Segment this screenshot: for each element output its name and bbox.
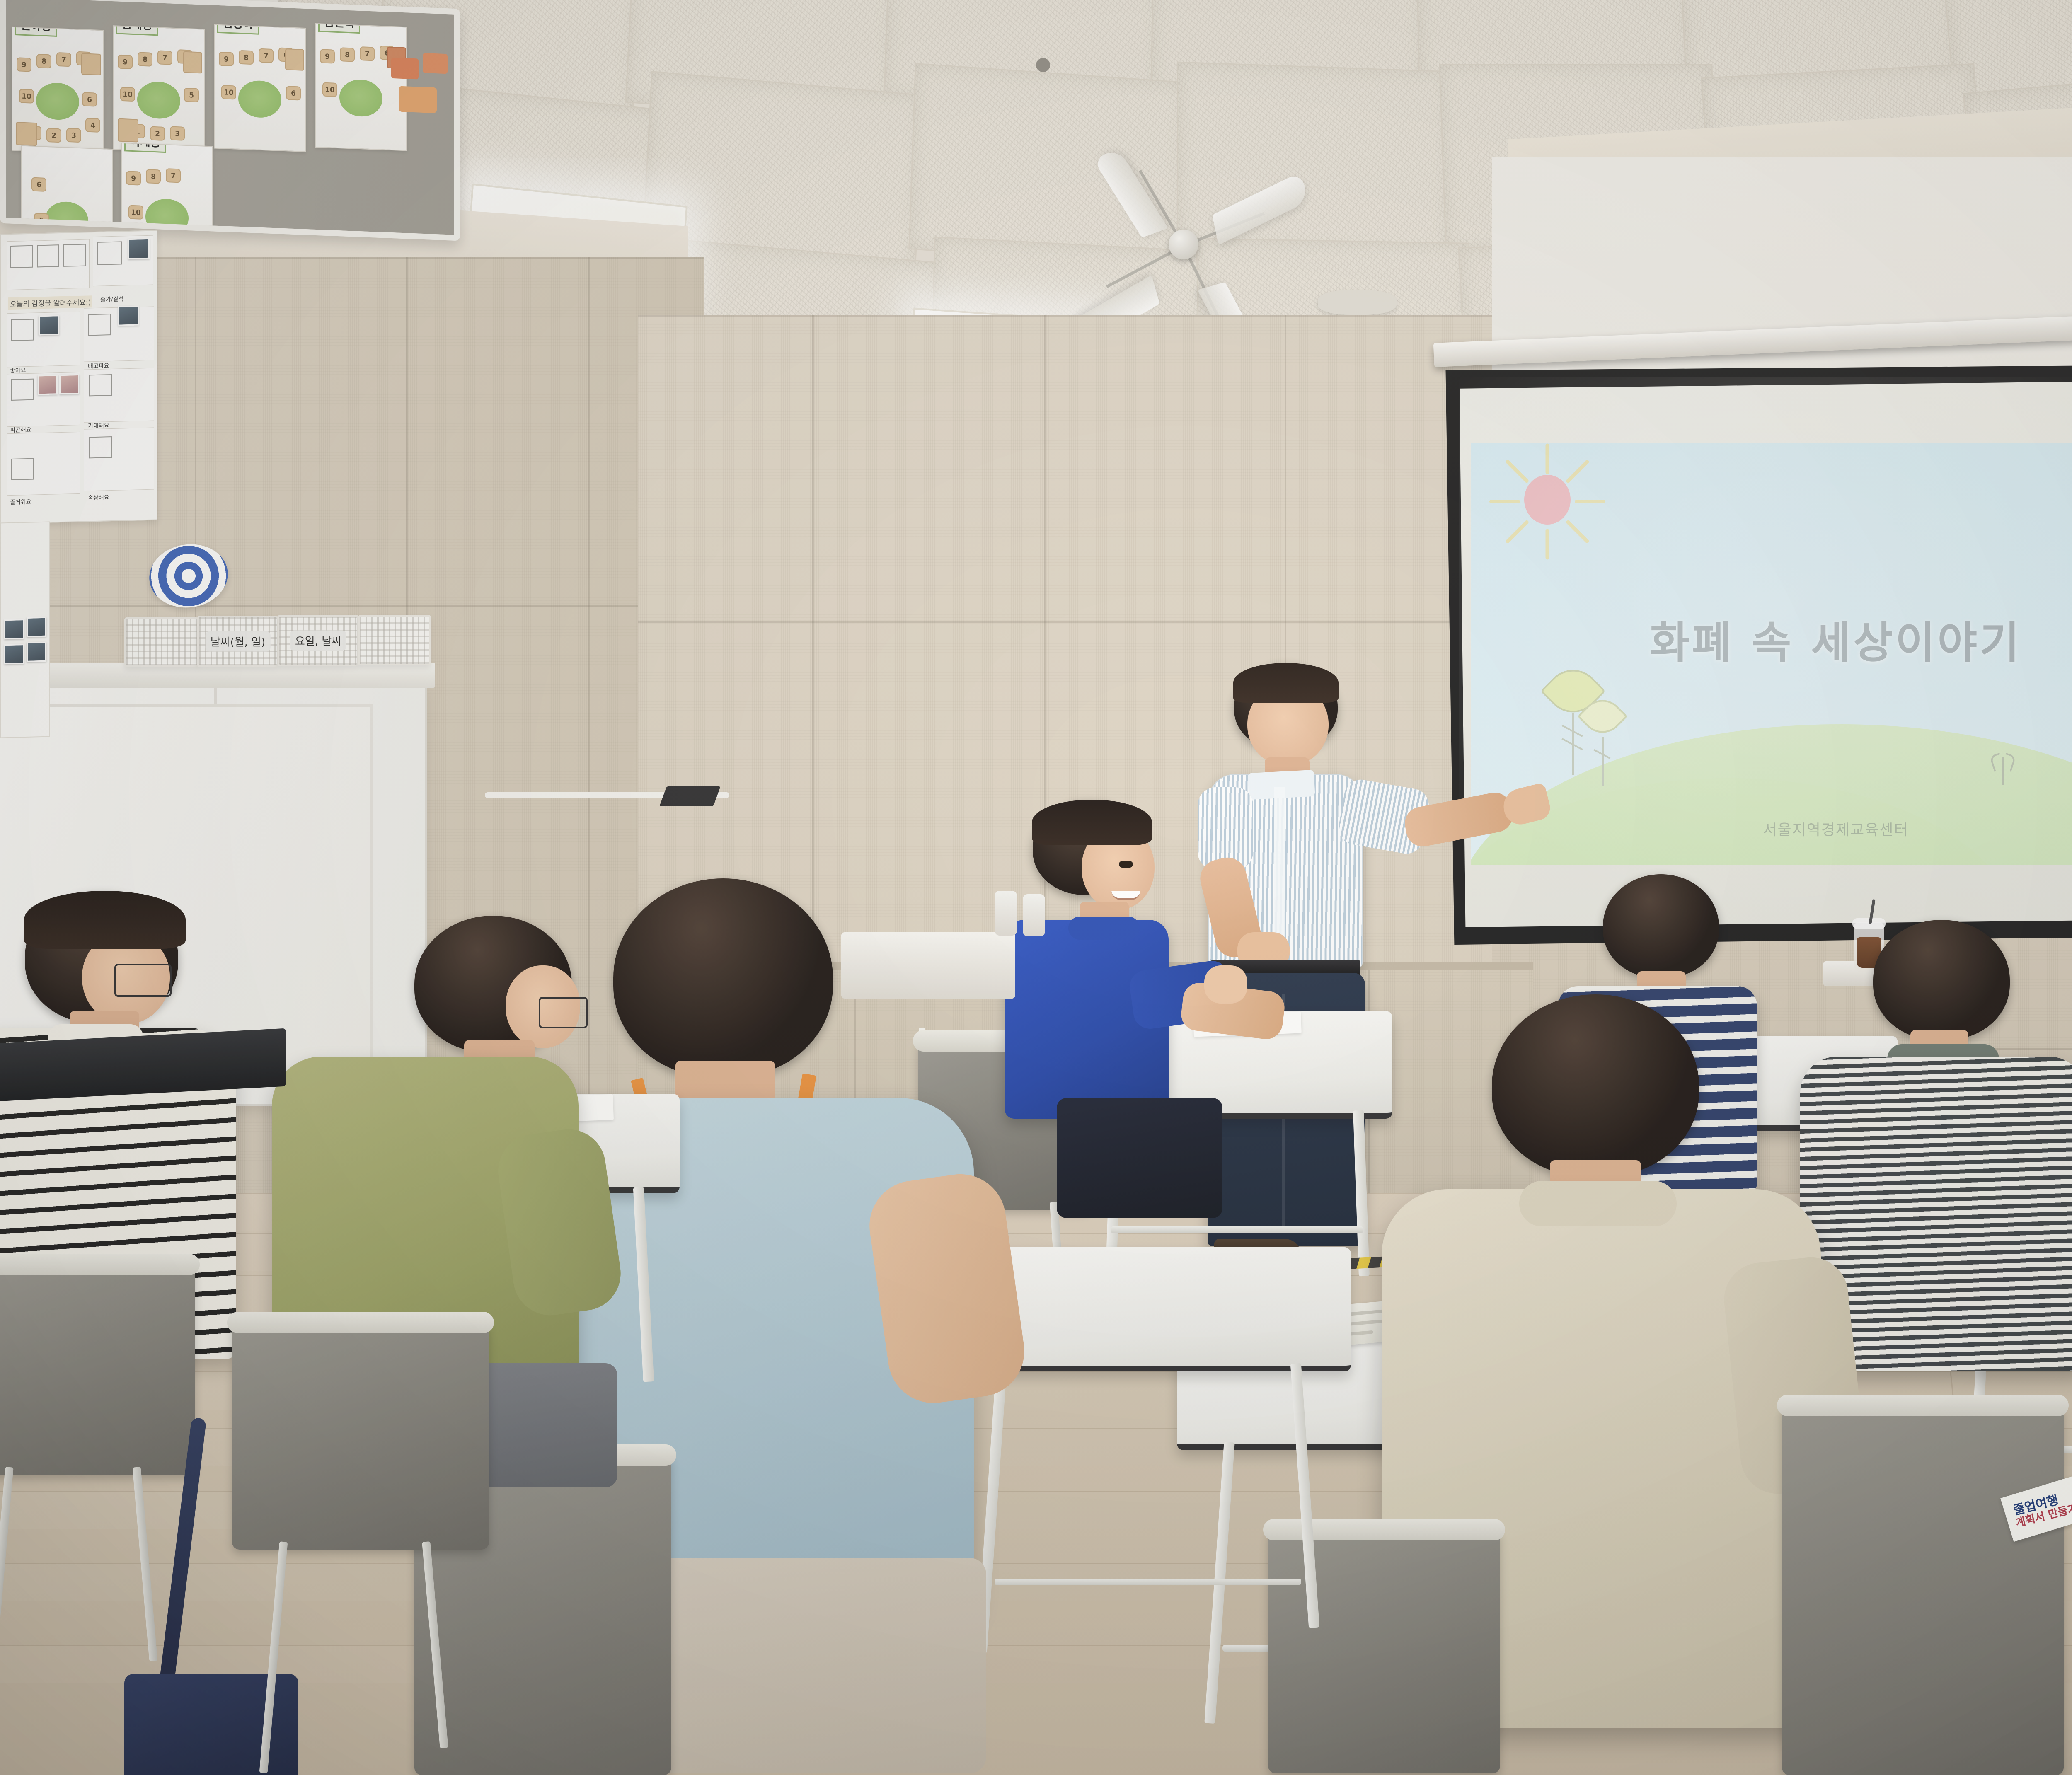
- sun-icon: [1524, 475, 1571, 525]
- emotion-chart-poster: 오늘의 감정을 알려주세요:) 출가/결석 좋아요 배고파요 피곤해요 기대돼요…: [0, 230, 157, 524]
- path-node: 6: [82, 92, 97, 106]
- path-node: 7: [157, 50, 172, 65]
- path-node: 6: [31, 177, 46, 192]
- path-node: 9: [320, 49, 335, 63]
- bulletin-board-clamp: [659, 786, 720, 806]
- shirt-collar: [1519, 1181, 1677, 1226]
- student-name-tag: 진하영: [15, 27, 57, 37]
- craft-piece: [391, 58, 419, 80]
- path-node: 10: [322, 82, 337, 97]
- storage-basket: 요일, 날씨: [278, 615, 359, 666]
- bulletin-board: 진하영 9 8 7 6 10 6 1 2 3 4 김재영 9 8 7 6 10 …: [0, 0, 460, 241]
- chair: [232, 1318, 489, 1550]
- craft-piece: [399, 86, 437, 114]
- poster-heading: 오늘의 감정을 알려주세요:): [8, 295, 92, 310]
- emotion-chart-poster-side: [0, 522, 50, 738]
- hair-fringe: [24, 891, 186, 949]
- path-node: 10: [128, 205, 143, 220]
- screen-surface: 화폐 속 세상이야기 서울지역경제교육센터: [1460, 380, 2072, 927]
- glasses-icon: [539, 997, 588, 1028]
- path-node: 9: [219, 52, 234, 66]
- path-node: 10: [120, 87, 135, 102]
- sprout-icon: [1989, 752, 2018, 786]
- rear-counter: [841, 932, 1015, 999]
- chair: [1268, 1525, 1500, 1773]
- student-name-tag: 이세용: [124, 143, 166, 153]
- slide-title: 화폐 속 세상이야기: [1471, 607, 2072, 670]
- student-progress-card: 김진혁 9 8 7 6 10: [315, 23, 407, 151]
- basket-label: 요일, 날씨: [290, 631, 346, 651]
- path-node: 10: [19, 89, 34, 103]
- path-node: 8: [138, 52, 152, 66]
- basket-label: 날짜(월, 일): [206, 631, 271, 652]
- student-progress-card: 김재영 9 8 7 6 10 5 1 2 3: [113, 25, 205, 153]
- hair-front: [1233, 663, 1339, 703]
- sprinkler-icon: [1036, 58, 1050, 72]
- head: [613, 878, 833, 1077]
- head: [1873, 920, 2010, 1040]
- tree-icon: [1580, 693, 1625, 788]
- path-node: 2: [150, 126, 165, 141]
- shirt-collar: [1068, 917, 1140, 940]
- craft-piece: [423, 53, 448, 74]
- path-node: 2: [46, 128, 61, 143]
- path-node: 9: [126, 171, 141, 185]
- path-node: 3: [170, 126, 185, 140]
- student-progress-card: 진하영 9 8 7 6 10 6 1 2 3 4: [12, 27, 104, 155]
- hand: [1204, 965, 1247, 1004]
- student-progress-card: 김동하 9 8 7 6 10 6: [214, 24, 306, 152]
- storage-basket: 날짜(월, 일): [197, 616, 278, 667]
- path-node: 7: [56, 52, 71, 67]
- path-node: 7: [166, 168, 181, 183]
- student-name-tag: 김진혁: [318, 23, 360, 34]
- bottle-icon: [995, 891, 1017, 936]
- slide-subtitle: 서울지역경제교육센터: [1471, 818, 2072, 839]
- path-node: 6: [286, 86, 301, 100]
- path-node: 8: [239, 50, 254, 65]
- trousers: [1057, 1098, 1222, 1218]
- path-node: 7: [259, 48, 274, 63]
- poster-attendance-heading: 출가/결석: [100, 295, 123, 303]
- mouth-smile: [1111, 891, 1140, 900]
- poster-row-caption: 즐거워요: [10, 498, 31, 506]
- storage-basket-group: 날짜(월, 일) 요일, 날씨: [124, 597, 431, 675]
- glasses-icon: [114, 964, 172, 997]
- classroom-photo-scene: LG: [0, 0, 2072, 1775]
- path-node: 3: [66, 128, 81, 143]
- path-node: 8: [146, 169, 161, 184]
- path-node: 7: [360, 46, 375, 61]
- path-node: 4: [85, 118, 100, 133]
- path-node: 8: [340, 47, 355, 62]
- path-node: 9: [118, 55, 133, 69]
- storage-basket: [124, 617, 199, 667]
- poster-row-caption: 속상해요: [88, 493, 109, 502]
- chair: [1782, 1400, 2064, 1775]
- person-student-blue-tee: [995, 800, 1293, 1214]
- eye: [1119, 861, 1133, 868]
- chair: [0, 1260, 195, 1475]
- head: [1603, 874, 1719, 978]
- slide-canvas: 화폐 속 세상이야기 서울지역경제교육센터: [1471, 443, 2072, 865]
- student-name-tag: 김재영: [116, 25, 158, 36]
- student-progress-card: 이세용 9 8 7 10: [121, 143, 213, 241]
- hair-fringe: [1032, 800, 1152, 845]
- path-node: 5: [184, 88, 199, 102]
- path-node: 10: [221, 85, 236, 99]
- student-name-tag: 김동하: [217, 24, 259, 35]
- path-node: 9: [17, 57, 31, 72]
- bottle-icon: [1023, 894, 1045, 936]
- path-node: 8: [36, 54, 51, 68]
- head: [1492, 994, 1699, 1177]
- smoke-detector-icon: [1318, 290, 1397, 315]
- storage-basket: [358, 615, 431, 665]
